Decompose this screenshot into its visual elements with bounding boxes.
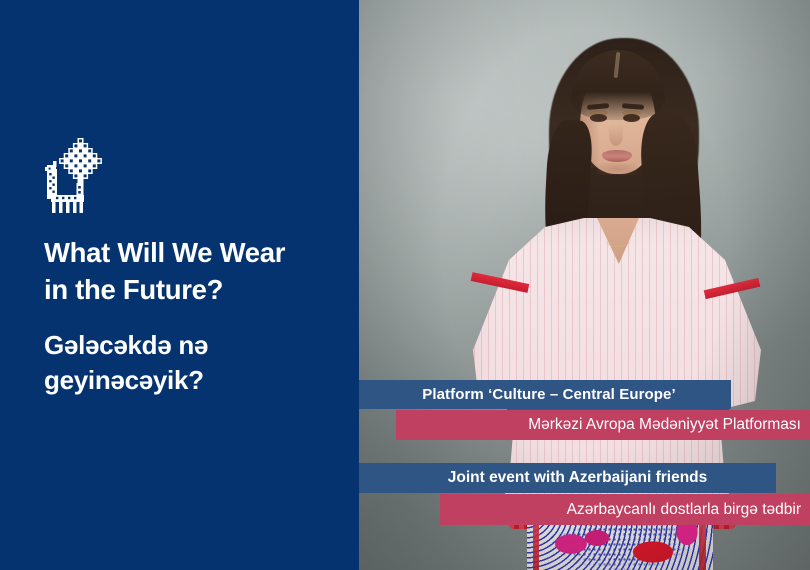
page-title-azerbaijani-line1: Gələcəkdə nə: [44, 328, 344, 363]
page-title-english-line1: What Will We Wear: [44, 235, 354, 272]
event-poster: What Will We Wear in the Future? Gələcək…: [0, 0, 810, 570]
banner-joint-event-english: Joint event with Azerbaijani friends: [359, 463, 776, 493]
left-title-panel: What Will We Wear in the Future? Gələcək…: [0, 0, 359, 570]
banner-platform-azerbaijani: Mərkəzi Avropa Mədəniyyət Platforması: [396, 410, 810, 440]
carpet-motif-camel-logo: [43, 137, 117, 215]
page-title-azerbaijani: Gələcəkdə nə geyinəcəyik?: [44, 328, 344, 397]
page-title-azerbaijani-line2: geyinəcəyik?: [44, 363, 344, 398]
page-title-english-line2: in the Future?: [44, 272, 354, 309]
banner-joint-event-azerbaijani: Azərbaycanlı dostlarla birgə tədbir: [440, 494, 810, 525]
page-title-english: What Will We Wear in the Future?: [44, 235, 354, 308]
banner-platform-english: Platform ‘Culture – Central Europe’: [359, 380, 731, 409]
